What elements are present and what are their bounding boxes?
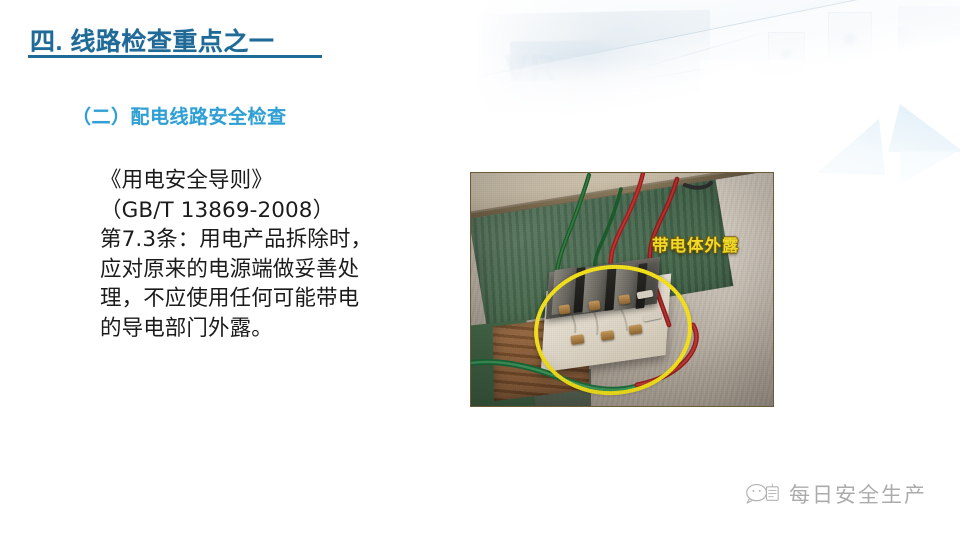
body-paragraph: 《用电安全导则》 （GB/T 13869-2008） 第7.3条：用电产品拆除时… xyxy=(100,166,380,343)
accent-triangle-lower xyxy=(900,150,960,184)
background-light-streak xyxy=(611,57,779,85)
background-vr-logo: VR xyxy=(504,47,557,90)
background-diagonal-edge xyxy=(470,0,960,85)
page-title: 四. 线路检查重点之一 xyxy=(30,22,274,58)
accent-triangle-left xyxy=(817,117,887,175)
background-diagonal-sweep xyxy=(470,0,960,175)
background-right-screen xyxy=(898,6,960,124)
background-fade-overlay xyxy=(470,0,960,175)
watermark: 每日安全生产 xyxy=(744,479,927,509)
background-kiosk-panel xyxy=(828,12,872,110)
wechat-bubble-icon xyxy=(744,481,780,507)
section-subtitle: （二）配电线路安全检查 xyxy=(72,102,287,129)
background-light-streak xyxy=(591,84,780,108)
background-floor xyxy=(470,0,960,175)
decorative-background-photo: VR xyxy=(470,0,960,175)
exposed-live-conductor-photo: 带电体外露 xyxy=(470,172,774,407)
watermark-text: 每日安全生产 xyxy=(789,479,927,509)
background-kiosk-panel xyxy=(768,32,805,108)
accent-triangle-right xyxy=(888,104,960,152)
background-pedestal xyxy=(812,120,875,129)
background-pedestal xyxy=(756,116,815,125)
background-vr-headset xyxy=(767,110,801,124)
photo-vignette xyxy=(471,173,773,406)
slide-canvas: VR 四. 线路检查重点之一 （二）配电线路安全检查 《用电安全导则》 （GB/… xyxy=(0,0,960,540)
background-large-screen: VR xyxy=(478,10,710,115)
background-vr-headset xyxy=(822,114,856,128)
background-light-streak xyxy=(623,31,767,73)
title-underline xyxy=(28,55,322,58)
